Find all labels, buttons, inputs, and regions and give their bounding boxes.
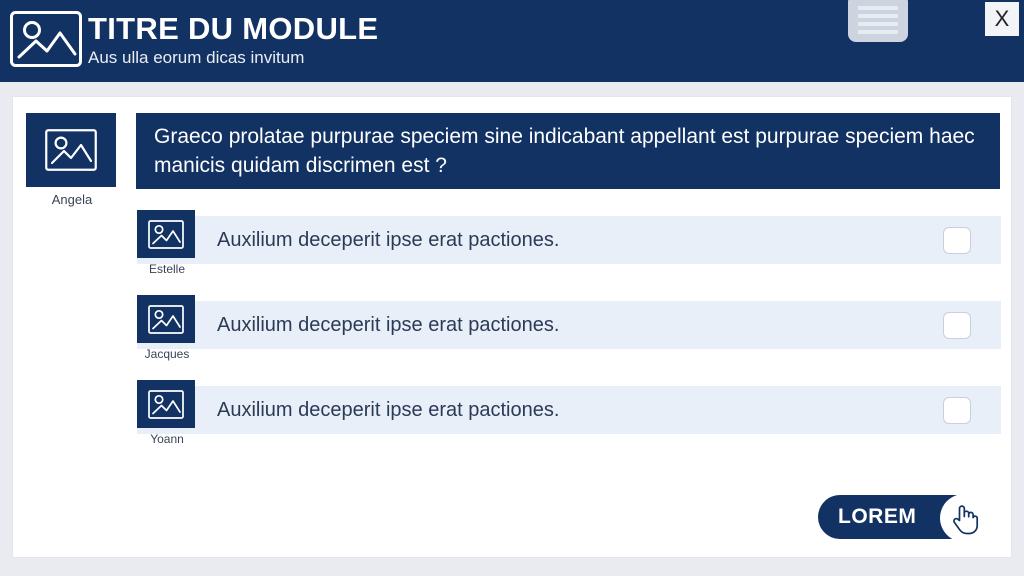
submit-area: LOREM bbox=[818, 495, 998, 543]
pointing-hand-icon bbox=[940, 494, 988, 542]
avatar bbox=[137, 210, 195, 258]
page-title: TITRE DU MODULE bbox=[88, 10, 378, 48]
list-item[interactable]: Estelle Auxilium deceperit ipse erat pac… bbox=[125, 216, 1001, 264]
content-card: Angela Graeco prolatae purpurae speciem … bbox=[12, 96, 1012, 558]
question-box: Graeco prolatae purpurae speciem sine in… bbox=[136, 113, 1000, 189]
menu-line bbox=[858, 14, 898, 18]
page-subtitle: Aus ulla eorum dicas invitum bbox=[88, 47, 378, 69]
avatar-name: Yoann bbox=[137, 432, 197, 447]
image-placeholder-icon bbox=[10, 11, 82, 67]
option-checkbox[interactable] bbox=[943, 397, 971, 424]
option-text: Auxilium deceperit ipse erat pactiones. bbox=[217, 301, 559, 349]
menu-line bbox=[858, 30, 898, 34]
menu-button[interactable] bbox=[848, 0, 908, 42]
menu-line bbox=[858, 22, 898, 26]
question-avatar-block: Angela bbox=[26, 113, 118, 208]
avatar bbox=[137, 295, 195, 343]
submit-label: LOREM bbox=[838, 495, 916, 539]
question-text: Graeco prolatae purpurae speciem sine in… bbox=[154, 122, 982, 180]
option-text: Auxilium deceperit ipse erat pactiones. bbox=[217, 216, 559, 264]
option-text: Auxilium deceperit ipse erat pactiones. bbox=[217, 386, 559, 434]
option-avatar-block: Jacques bbox=[137, 295, 197, 362]
menu-line bbox=[858, 6, 898, 10]
avatar-name: Estelle bbox=[137, 262, 197, 277]
option-checkbox[interactable] bbox=[943, 312, 971, 339]
options-list: Estelle Auxilium deceperit ipse erat pac… bbox=[125, 216, 1001, 471]
question-row: Angela Graeco prolatae purpurae speciem … bbox=[26, 113, 1000, 193]
list-item[interactable]: Jacques Auxilium deceperit ipse erat pac… bbox=[125, 301, 1001, 349]
close-button[interactable]: X bbox=[985, 2, 1019, 36]
header-text-block: TITRE DU MODULE Aus ulla eorum dicas inv… bbox=[88, 10, 378, 69]
option-avatar-block: Yoann bbox=[137, 380, 197, 447]
option-avatar-block: Estelle bbox=[137, 210, 197, 277]
app-header: TITRE DU MODULE Aus ulla eorum dicas inv… bbox=[0, 0, 1024, 82]
avatar-name: Angela bbox=[26, 192, 118, 208]
option-checkbox[interactable] bbox=[943, 227, 971, 254]
avatar-name: Jacques bbox=[137, 347, 197, 362]
list-item[interactable]: Yoann Auxilium deceperit ipse erat pacti… bbox=[125, 386, 1001, 434]
avatar bbox=[137, 380, 195, 428]
avatar bbox=[26, 113, 116, 187]
